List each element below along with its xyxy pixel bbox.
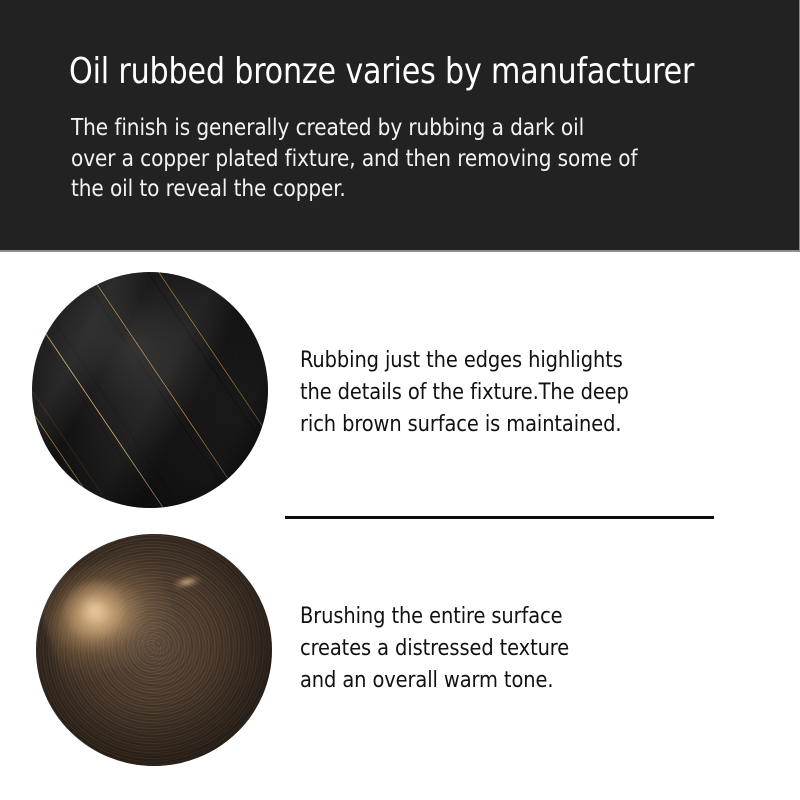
rubbed-edges-line-2: the details of the fixture.The deep xyxy=(300,376,703,408)
rubbed-edges-line-1: Rubbing just the edges highlights xyxy=(300,344,703,376)
stripe-copper-2 xyxy=(32,272,224,508)
header-subtitle-line-3: the oil to reveal the copper. xyxy=(71,173,717,204)
brushed-surface-line-1: Brushing the entire surface xyxy=(300,600,703,632)
infographic-canvas: Oil rubbed bronze varies by manufacturer… xyxy=(0,0,800,800)
section-divider xyxy=(285,516,714,519)
header-subtitle-line-1: The finish is generally created by rubbi… xyxy=(71,112,717,143)
brushed-hot-core-highlight xyxy=(55,571,134,650)
copper-stripe-group xyxy=(32,272,268,508)
brushed-sphere-shading xyxy=(36,534,272,766)
oil-rubbed-bronze-rubbed-edges-swatch xyxy=(32,272,268,508)
oil-rubbed-bronze-brushed-surface-swatch xyxy=(36,534,272,766)
header-subtitle-line-2: over a copper plated fixture, and then r… xyxy=(71,143,717,174)
stripe-dark-4 xyxy=(87,272,268,508)
stripe-fade-1 xyxy=(32,273,188,508)
brushed-glint xyxy=(172,573,202,590)
header-subtitle: The finish is generally created by rubbi… xyxy=(71,112,717,204)
brushed-ring-texture-fine xyxy=(36,534,272,766)
brushed-surface-line-2: creates a distressed texture xyxy=(300,632,703,664)
stripe-fade-2 xyxy=(32,272,235,508)
stripe-dark-1 xyxy=(32,283,172,508)
brushed-surface-line-3: and an overall warm tone. xyxy=(300,664,703,696)
rubbed-edges-line-3: rich brown surface is maintained. xyxy=(300,408,703,440)
brushed-ring-texture xyxy=(36,534,272,766)
page-title: Oil rubbed bronze varies by manufacturer xyxy=(69,50,731,94)
brushed-primary-highlight xyxy=(36,545,186,686)
header-band: Oil rubbed bronze varies by manufacturer… xyxy=(0,0,800,252)
stripe-dark-5 xyxy=(32,309,134,508)
rubbed-edges-description: Rubbing just the edges highlights the de… xyxy=(300,344,703,440)
brushed-surface-description: Brushing the entire surface creates a di… xyxy=(300,600,703,696)
